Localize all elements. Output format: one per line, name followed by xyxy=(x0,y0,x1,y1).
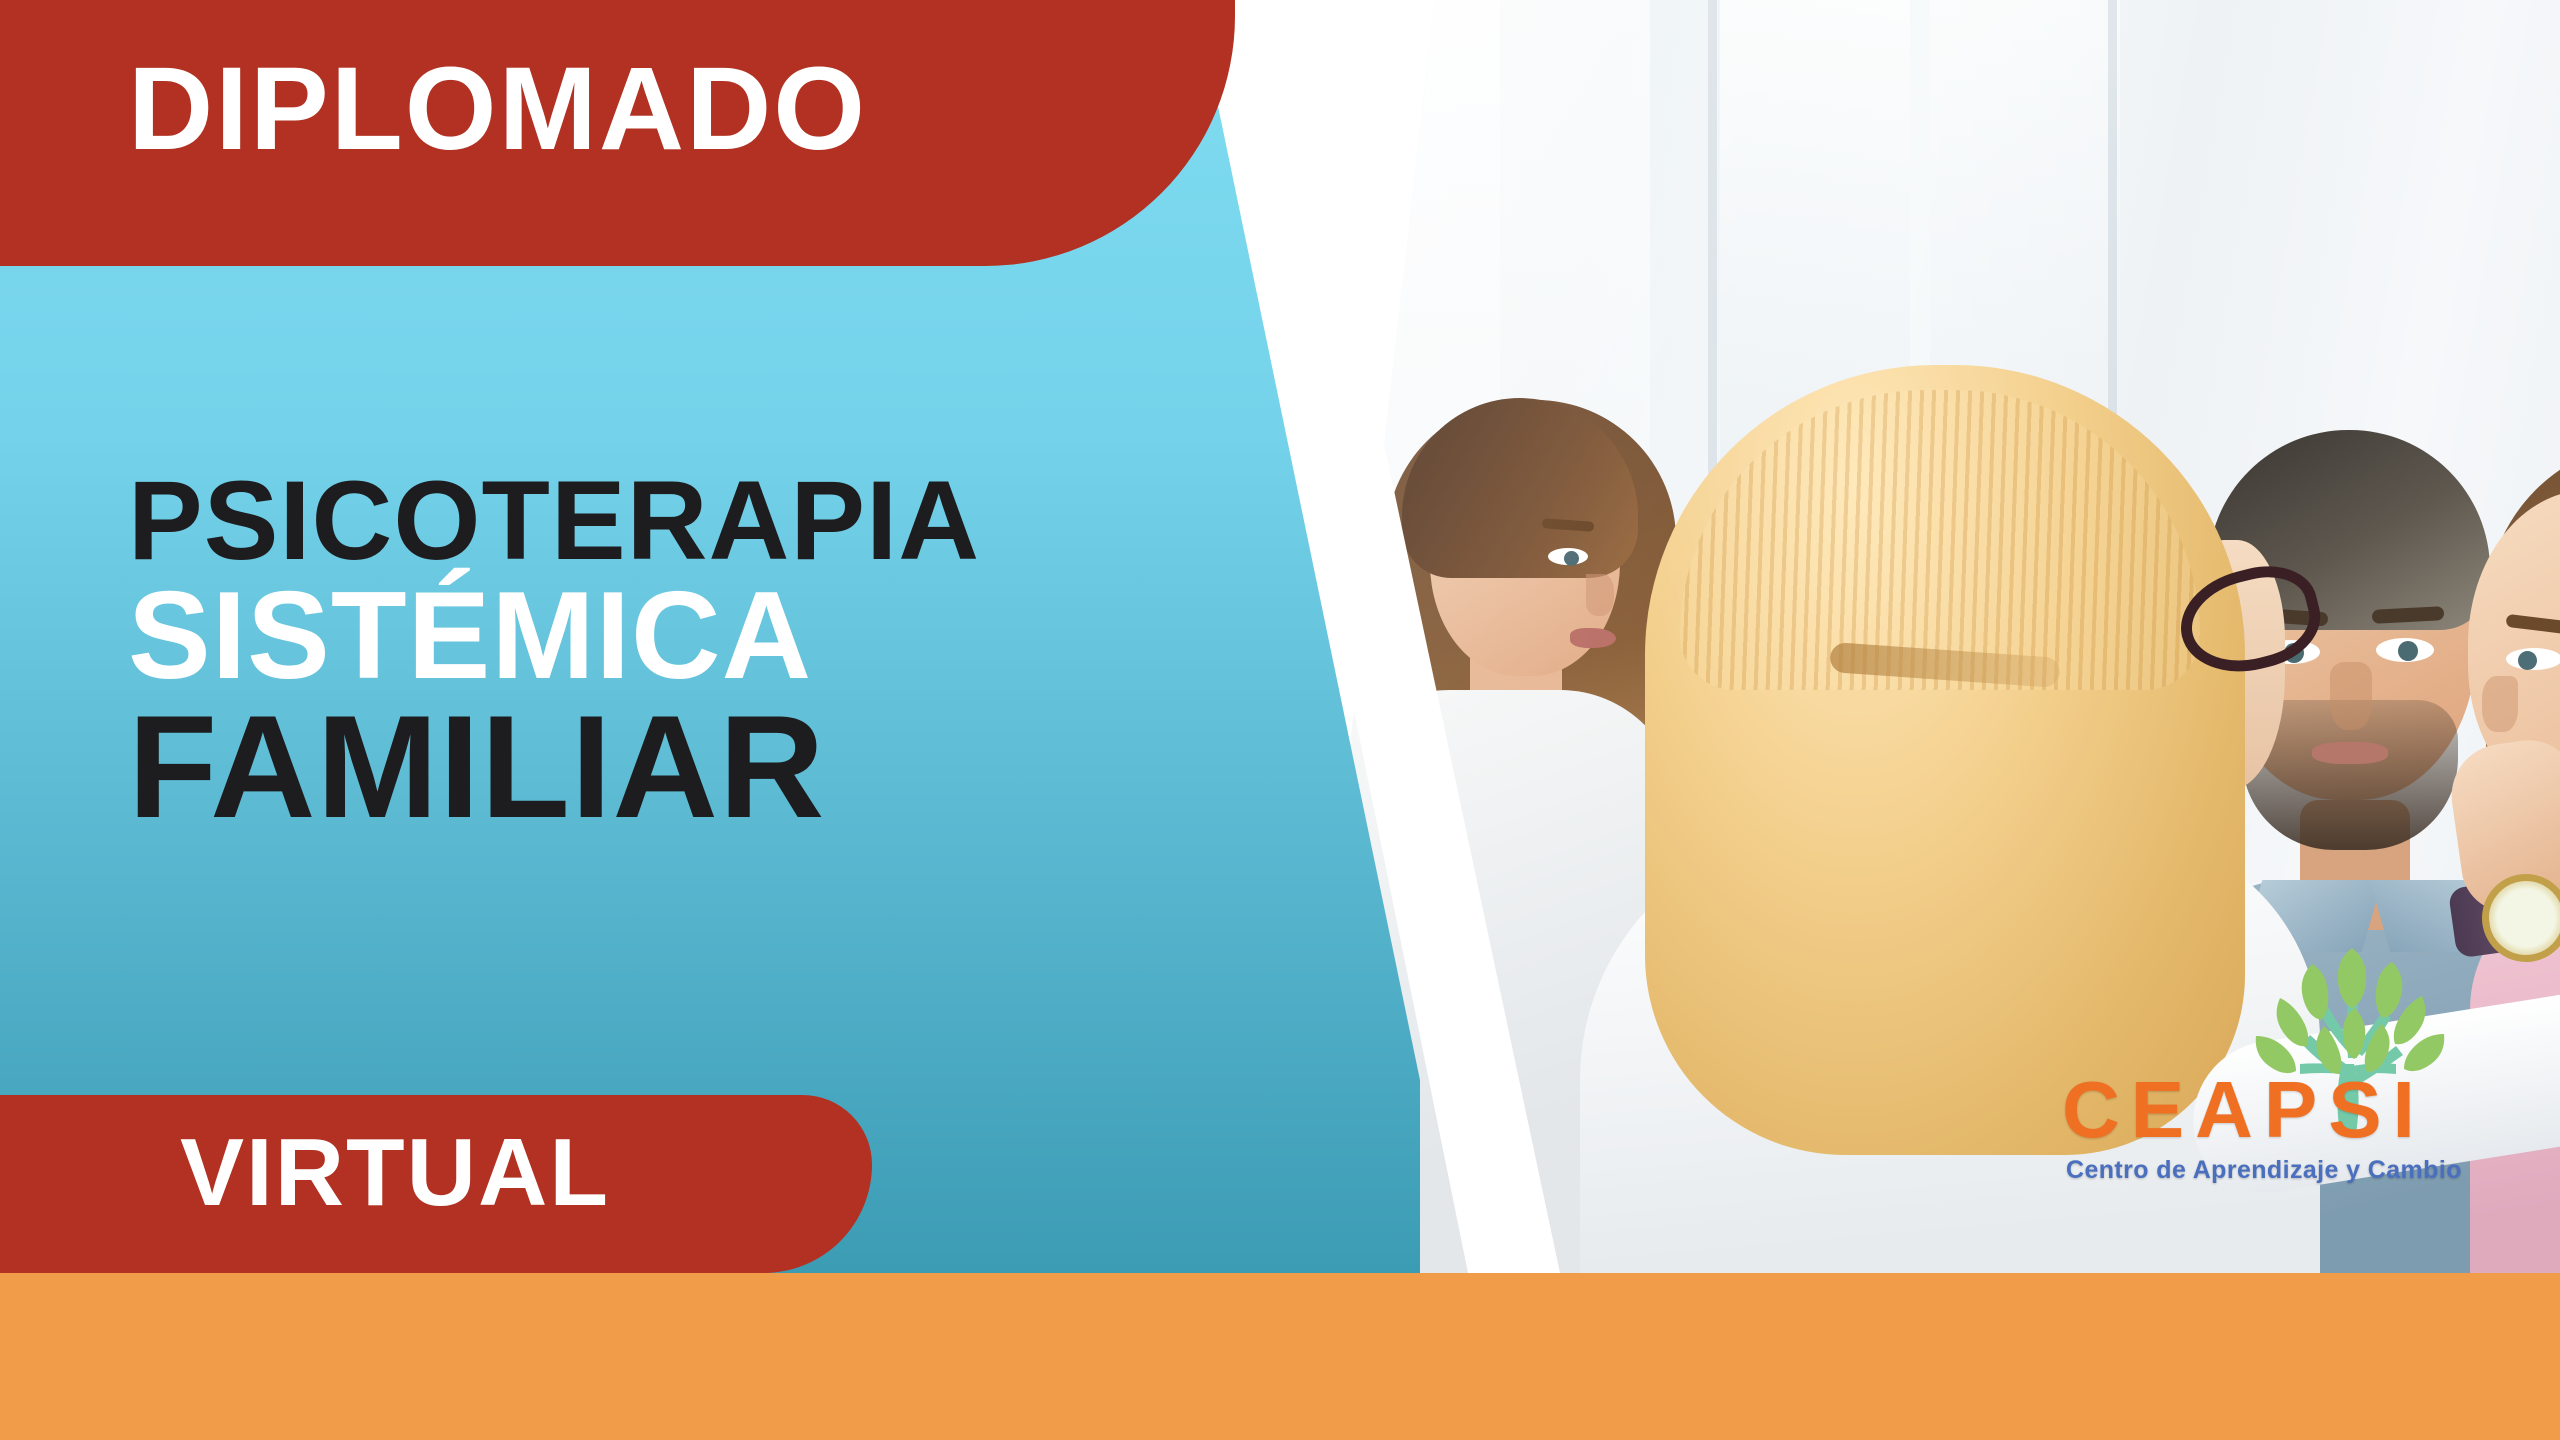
modality-badge: VIRTUAL xyxy=(0,1095,872,1273)
mouth xyxy=(1570,628,1616,648)
logo-wordmark: CEAPSI xyxy=(2062,1070,2482,1150)
headline-block: PSICOTERAPIA SISTÉMICA FAMILIAR xyxy=(128,468,1208,837)
modality-label: VIRTUAL xyxy=(180,1125,610,1221)
diplomado-label: DIPLOMADO xyxy=(128,50,867,168)
mouth xyxy=(2312,742,2388,764)
pupil xyxy=(2398,641,2418,661)
bottom-accent-bar xyxy=(0,1273,2560,1440)
headline-line-2: SISTÉMICA xyxy=(128,578,1208,696)
nose xyxy=(2330,662,2372,730)
logo-tagline: Centro de Aprendizaje y Cambio xyxy=(2066,1158,2486,1183)
pupil xyxy=(1564,551,1579,566)
nose xyxy=(1586,574,1614,616)
ceapsi-logo: CEAPSI Centro de Aprendizaje y Cambio xyxy=(2062,960,2482,1190)
headline-line-1: PSICOTERAPIA xyxy=(128,468,1208,574)
promo-banner: DIPLOMADO PSICOTERAPIA SISTÉMICA FAMILIA… xyxy=(0,0,2560,1440)
nose xyxy=(2482,676,2518,732)
pupil xyxy=(2518,651,2537,670)
headline-line-3: FAMILIAR xyxy=(128,698,1208,837)
diplomado-band: DIPLOMADO xyxy=(0,0,1235,266)
